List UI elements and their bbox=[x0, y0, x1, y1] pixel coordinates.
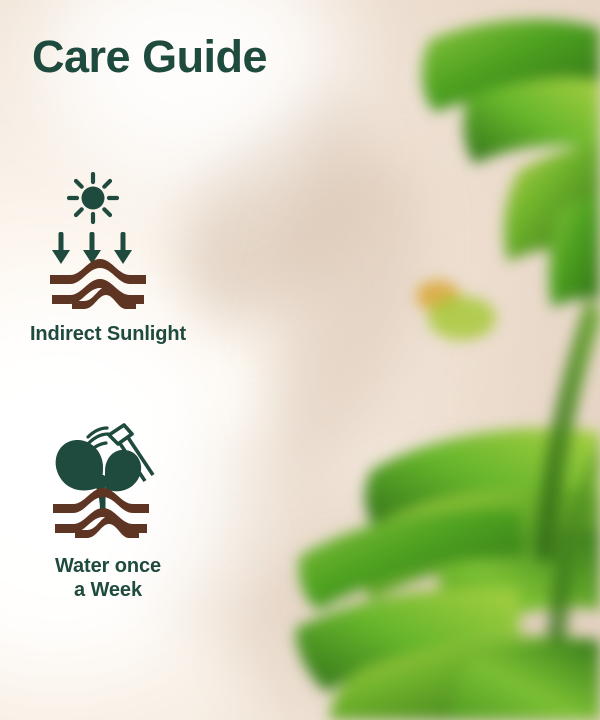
plant-photo bbox=[0, 0, 600, 720]
down-arrow-icon bbox=[114, 232, 132, 264]
plant-photo-leaves bbox=[0, 0, 600, 720]
soil-waves-icon bbox=[50, 259, 146, 309]
sun-icon bbox=[69, 174, 117, 222]
page-title: Care Guide bbox=[32, 34, 267, 79]
care-item-indirect-sunlight: Indirect Sunlight bbox=[8, 172, 208, 346]
care-item-label-water-once-a-week: Water once a Week bbox=[8, 554, 208, 602]
sun-arrows-soil-icon bbox=[48, 172, 168, 312]
soil-waves-icon bbox=[53, 488, 149, 538]
care-item-water-once-a-week: Water once a Week bbox=[8, 415, 208, 602]
care-guide-card: Care Guide bbox=[0, 0, 600, 720]
down-arrow-group bbox=[52, 232, 132, 264]
care-label-line-1: Water once bbox=[8, 554, 208, 578]
down-arrow-icon bbox=[52, 232, 70, 264]
watering-can-sprout-soil-icon bbox=[43, 415, 173, 540]
care-item-label-indirect-sunlight: Indirect Sunlight bbox=[8, 322, 208, 346]
leaf-icon bbox=[105, 450, 141, 491]
care-label-line-2: a Week bbox=[8, 578, 208, 602]
